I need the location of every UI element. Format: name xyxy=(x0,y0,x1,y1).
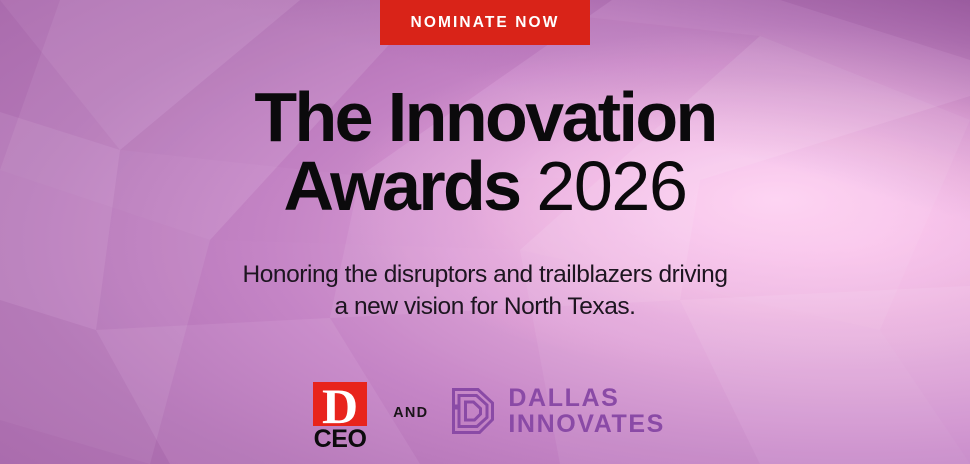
dallas-innovates-line-1: DALLAS xyxy=(508,385,665,411)
sponsor-logo-row: D CEO AND DALLAS INNOVATES xyxy=(0,380,970,464)
dallas-innovates-line-2: INNOVATES xyxy=(508,411,665,437)
dallas-innovates-logo[interactable]: DALLAS INNOVATES xyxy=(448,385,665,437)
dallas-innovates-d-monogram-icon xyxy=(448,386,496,436)
subtitle-line-2: a new vision for North Texas. xyxy=(0,291,970,323)
headline-line-2: Awards 2026 xyxy=(0,153,970,220)
d-ceo-monogram-letter: D xyxy=(322,382,358,426)
headline-year: 2026 xyxy=(536,147,686,225)
headline-line-1: The Innovation xyxy=(0,84,970,151)
innovation-awards-banner: NOMINATE NOW The Innovation Awards 2026 … xyxy=(0,0,970,464)
headline-awards-word: Awards xyxy=(284,147,520,225)
nominate-now-button[interactable]: NOMINATE NOW xyxy=(380,0,590,45)
d-ceo-wordmark: CEO xyxy=(314,427,367,452)
subtitle-line-1: Honoring the disruptors and trailblazers… xyxy=(0,259,970,291)
d-ceo-logo[interactable]: D CEO xyxy=(305,382,375,452)
conjunction-label: AND xyxy=(393,405,428,421)
dallas-innovates-wordmark: DALLAS INNOVATES xyxy=(508,385,665,437)
page-title: The Innovation Awards 2026 xyxy=(0,84,970,220)
subtitle: Honoring the disruptors and trailblazers… xyxy=(0,259,970,323)
d-ceo-monogram-icon: D xyxy=(313,382,367,426)
